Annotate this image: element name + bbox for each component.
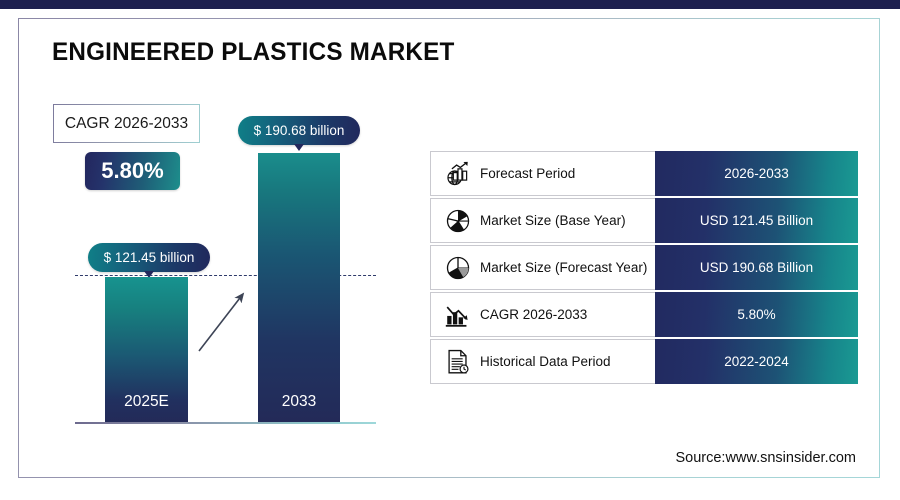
growth-arrow-icon <box>190 280 260 360</box>
page-title: ENGINEERED PLASTICS MARKET <box>52 38 455 67</box>
bar-category-label-2025e: 2025E <box>105 393 188 411</box>
table-row: Market Size (Forecast Year) USD 190.68 B… <box>430 245 858 290</box>
table-row: Historical Data Period 2022-2024 <box>430 339 858 384</box>
bar-value-pill-2033: $ 190.68 billion <box>238 116 360 145</box>
table-row-value: USD 190.68 Billion <box>700 260 813 275</box>
bar-2025e: 2025E <box>105 277 188 422</box>
table-row-label-cell: Market Size (Forecast Year) <box>430 245 655 290</box>
cagr-label-text: CAGR 2026-2033 <box>65 115 188 133</box>
table-row-value-cell: 5.80% <box>655 292 858 337</box>
table-row-label-cell: Forecast Period <box>430 151 655 196</box>
table-row: Market Size (Base Year) USD 121.45 Billi… <box>430 198 858 243</box>
bar-value-pill-2025: $ 121.45 billion <box>88 243 210 272</box>
bar-chart-decline-icon <box>441 299 475 331</box>
pie-chart-icon <box>441 205 475 237</box>
table-row-value-cell: 2026-2033 <box>655 151 858 196</box>
table-row-label: Market Size (Base Year) <box>475 213 626 228</box>
table-row-value-cell: USD 121.45 Billion <box>655 198 858 243</box>
cagr-value-badge: 5.80% <box>85 152 180 190</box>
summary-table: Forecast Period 2026-2033 M <box>430 151 858 386</box>
table-row-label: Market Size (Forecast Year) <box>475 260 647 275</box>
infographic-root: ENGINEERED PLASTICS MARKET CAGR 2026-203… <box>0 0 900 500</box>
table-row-value: 2026-2033 <box>724 166 789 181</box>
table-row-label-cell: Market Size (Base Year) <box>430 198 655 243</box>
table-row-label: Forecast Period <box>475 166 575 181</box>
chart-baseline <box>75 422 376 424</box>
table-row-value: USD 121.45 Billion <box>700 213 813 228</box>
cagr-label-box: CAGR 2026-2033 <box>53 104 200 143</box>
source-attribution: Source:www.snsinsider.com <box>675 450 856 466</box>
table-row-label: CAGR 2026-2033 <box>475 307 587 322</box>
table-row: CAGR 2026-2033 5.80% <box>430 292 858 337</box>
globe-growth-chart-icon <box>441 158 475 190</box>
table-row-value: 5.80% <box>737 307 775 322</box>
table-row-label-cell: Historical Data Period <box>430 339 655 384</box>
table-row-value-cell: 2022-2024 <box>655 339 858 384</box>
pill-pointer-icon <box>294 144 304 151</box>
table-row: Forecast Period 2026-2033 <box>430 151 858 196</box>
table-row-value: 2022-2024 <box>724 354 789 369</box>
bar-2033: 2033 <box>258 153 340 422</box>
table-row-value-cell: USD 190.68 Billion <box>655 245 858 290</box>
bar-value-pill-2025-text: $ 121.45 billion <box>104 250 195 265</box>
cagr-value-text: 5.80% <box>101 158 163 184</box>
pie-chart-thirds-icon <box>441 252 475 284</box>
table-row-label-cell: CAGR 2026-2033 <box>430 292 655 337</box>
table-row-label: Historical Data Period <box>475 354 611 369</box>
bar-category-label-2033: 2033 <box>258 393 340 411</box>
bar-value-pill-2033-text: $ 190.68 billion <box>254 123 345 138</box>
document-clock-icon <box>441 346 475 378</box>
top-accent-bar <box>0 0 900 9</box>
